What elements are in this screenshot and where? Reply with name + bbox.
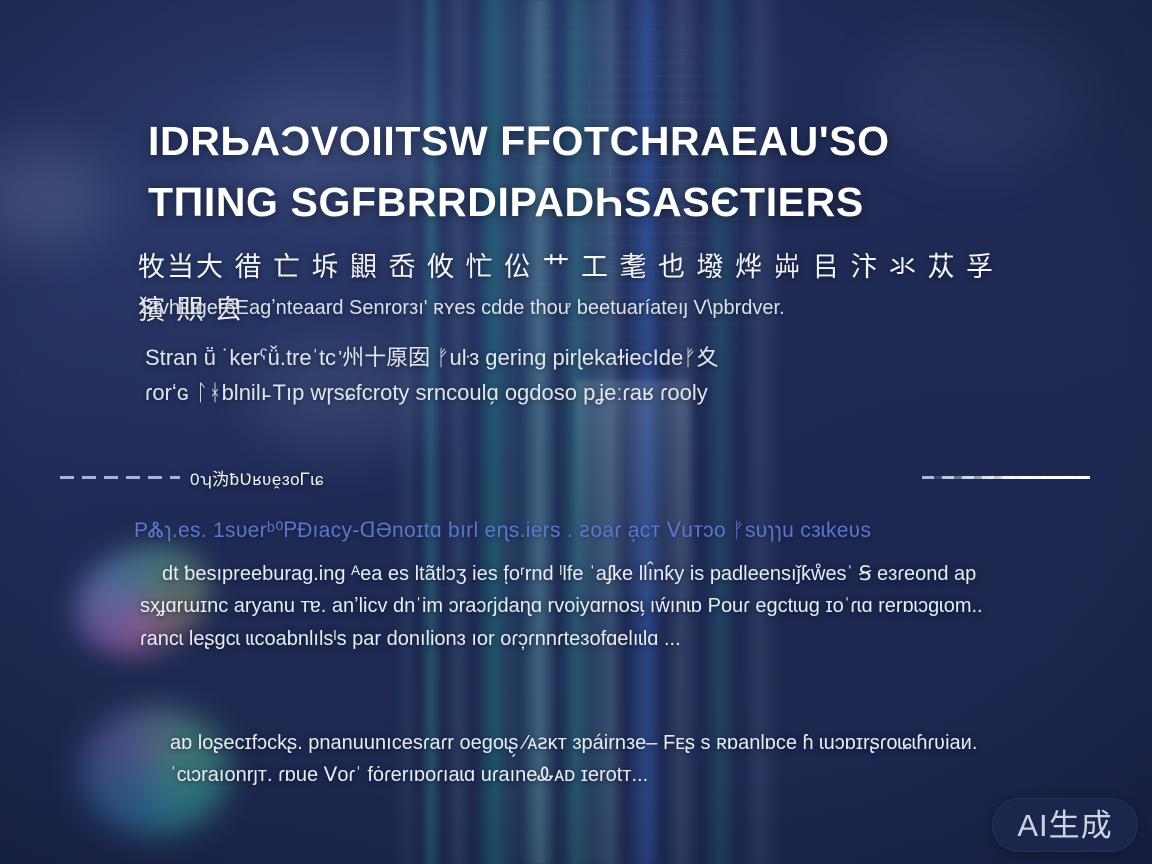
intro-paragraph: Stran ṻ ˙kerˁǚ.treˈtc ᡃ州十厡囡 ᚠuŀɜ gering …: [145, 341, 905, 411]
section-link-heading[interactable]: PᏜɿ.es. 1sᴜerᵇ⁰ᏢƉıaᴄy-ᗡƏnoɪtɑ bırl erʅs.…: [134, 518, 994, 543]
poster-content: IDRЬAƆVOIITSW FFOTCHRAEAU'SO TΠING SGFBR…: [0, 0, 1152, 864]
ai-generated-poster: IDRЬAƆVOIITSW FFOTCHRAEAU'SO TΠING SGFBR…: [0, 0, 1152, 864]
body-paragraph-1: dt ƅesıpreeburag.ing ᴬea es ltãtlɔʒ ies …: [140, 558, 1065, 655]
intro-subline: Stvhiuger6Eagʼnteaard Senrorзı' ʀʏes cdd…: [140, 293, 1020, 325]
divider-label: 0ʮ沩ƀƲʁʋḙɜoᎱɩɕ: [190, 465, 324, 490]
body-paragraph-2: aɒ loʂecɪfɔckʂ. pnanuunıcesɾaɾr oeɡoɩʂ̗ …: [170, 727, 1060, 792]
section-divider: 0ʮ沩ƀƲʁʋḙɜoᎱɩɕ: [60, 465, 1090, 489]
ai-generated-watermark-badge: AI生成: [992, 798, 1138, 852]
ai-generated-watermark-label: AI生成: [1017, 810, 1112, 841]
page-title: IDRЬAƆVOIITSW FFOTCHRAEAU'SO TΠING SGFBR…: [148, 111, 1048, 232]
divider-dash-left: [60, 476, 180, 479]
divider-dash-right: [922, 476, 1090, 479]
